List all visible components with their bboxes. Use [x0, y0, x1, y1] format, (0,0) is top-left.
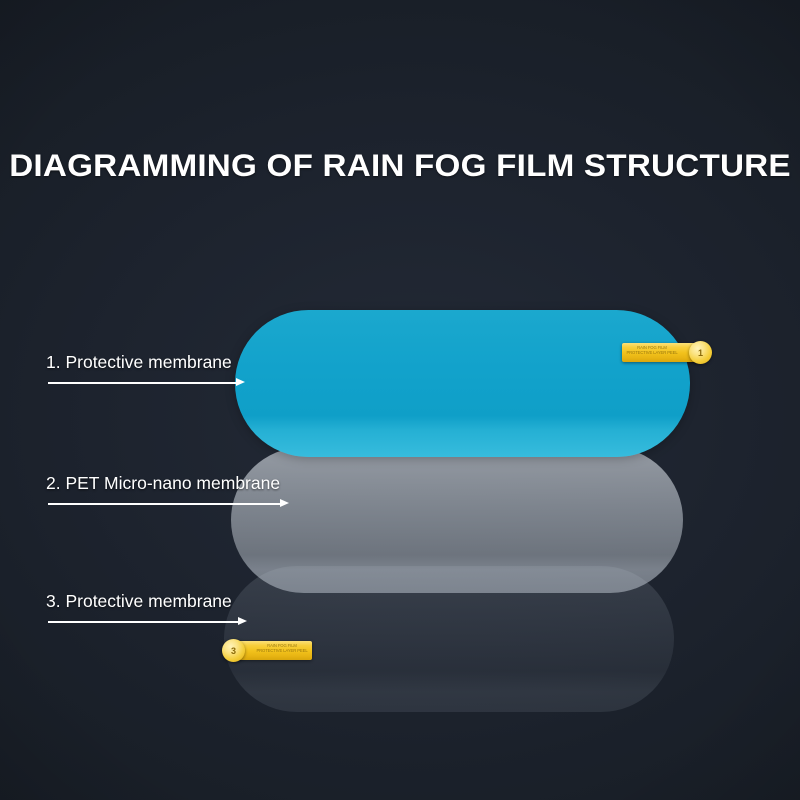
arrow-shaft-icon [48, 621, 238, 623]
arrow-head-icon [236, 378, 245, 386]
pull-tab-bottom-text: RAIN FOG FILM PROTECTIVE LAYER PEEL HERE [256, 644, 308, 653]
pull-tab-top[interactable]: RAIN FOG FILM PROTECTIVE LAYER PEEL HERE… [622, 343, 700, 362]
layer-pet-micro-nano-membrane [231, 447, 683, 593]
pull-tab-top-number: 1 [689, 341, 712, 364]
callout-arrow-3 [46, 617, 232, 626]
callout-pet-micro-nano-membrane: 2. PET Micro-nano membrane [46, 473, 280, 508]
callout-label-1: 1. Protective membrane [46, 352, 232, 372]
callout-arrow-1 [46, 378, 232, 387]
callout-protective-membrane-bottom: 3. Protective membrane [46, 591, 232, 626]
callout-label-2: 2. PET Micro-nano membrane [46, 473, 280, 493]
diagram-canvas: DIAGRAMMING OF RAIN FOG FILM STRUCTURE R… [0, 0, 800, 800]
pull-tab-top-text: RAIN FOG FILM PROTECTIVE LAYER PEEL HERE [626, 346, 678, 355]
pull-tab-bottom-number: 3 [222, 639, 245, 662]
layer-protective-membrane-top [235, 310, 690, 457]
arrow-shaft-icon [48, 503, 280, 505]
pull-tab-bottom[interactable]: RAIN FOG FILM PROTECTIVE LAYER PEEL HERE… [234, 641, 312, 660]
page-title: DIAGRAMMING OF RAIN FOG FILM STRUCTURE [0, 147, 800, 184]
arrow-head-icon [238, 617, 247, 625]
callout-arrow-2 [46, 499, 280, 508]
callout-protective-membrane-top: 1. Protective membrane [46, 352, 232, 387]
callout-label-3: 3. Protective membrane [46, 591, 232, 611]
arrow-head-icon [280, 499, 289, 507]
arrow-shaft-icon [48, 382, 236, 384]
